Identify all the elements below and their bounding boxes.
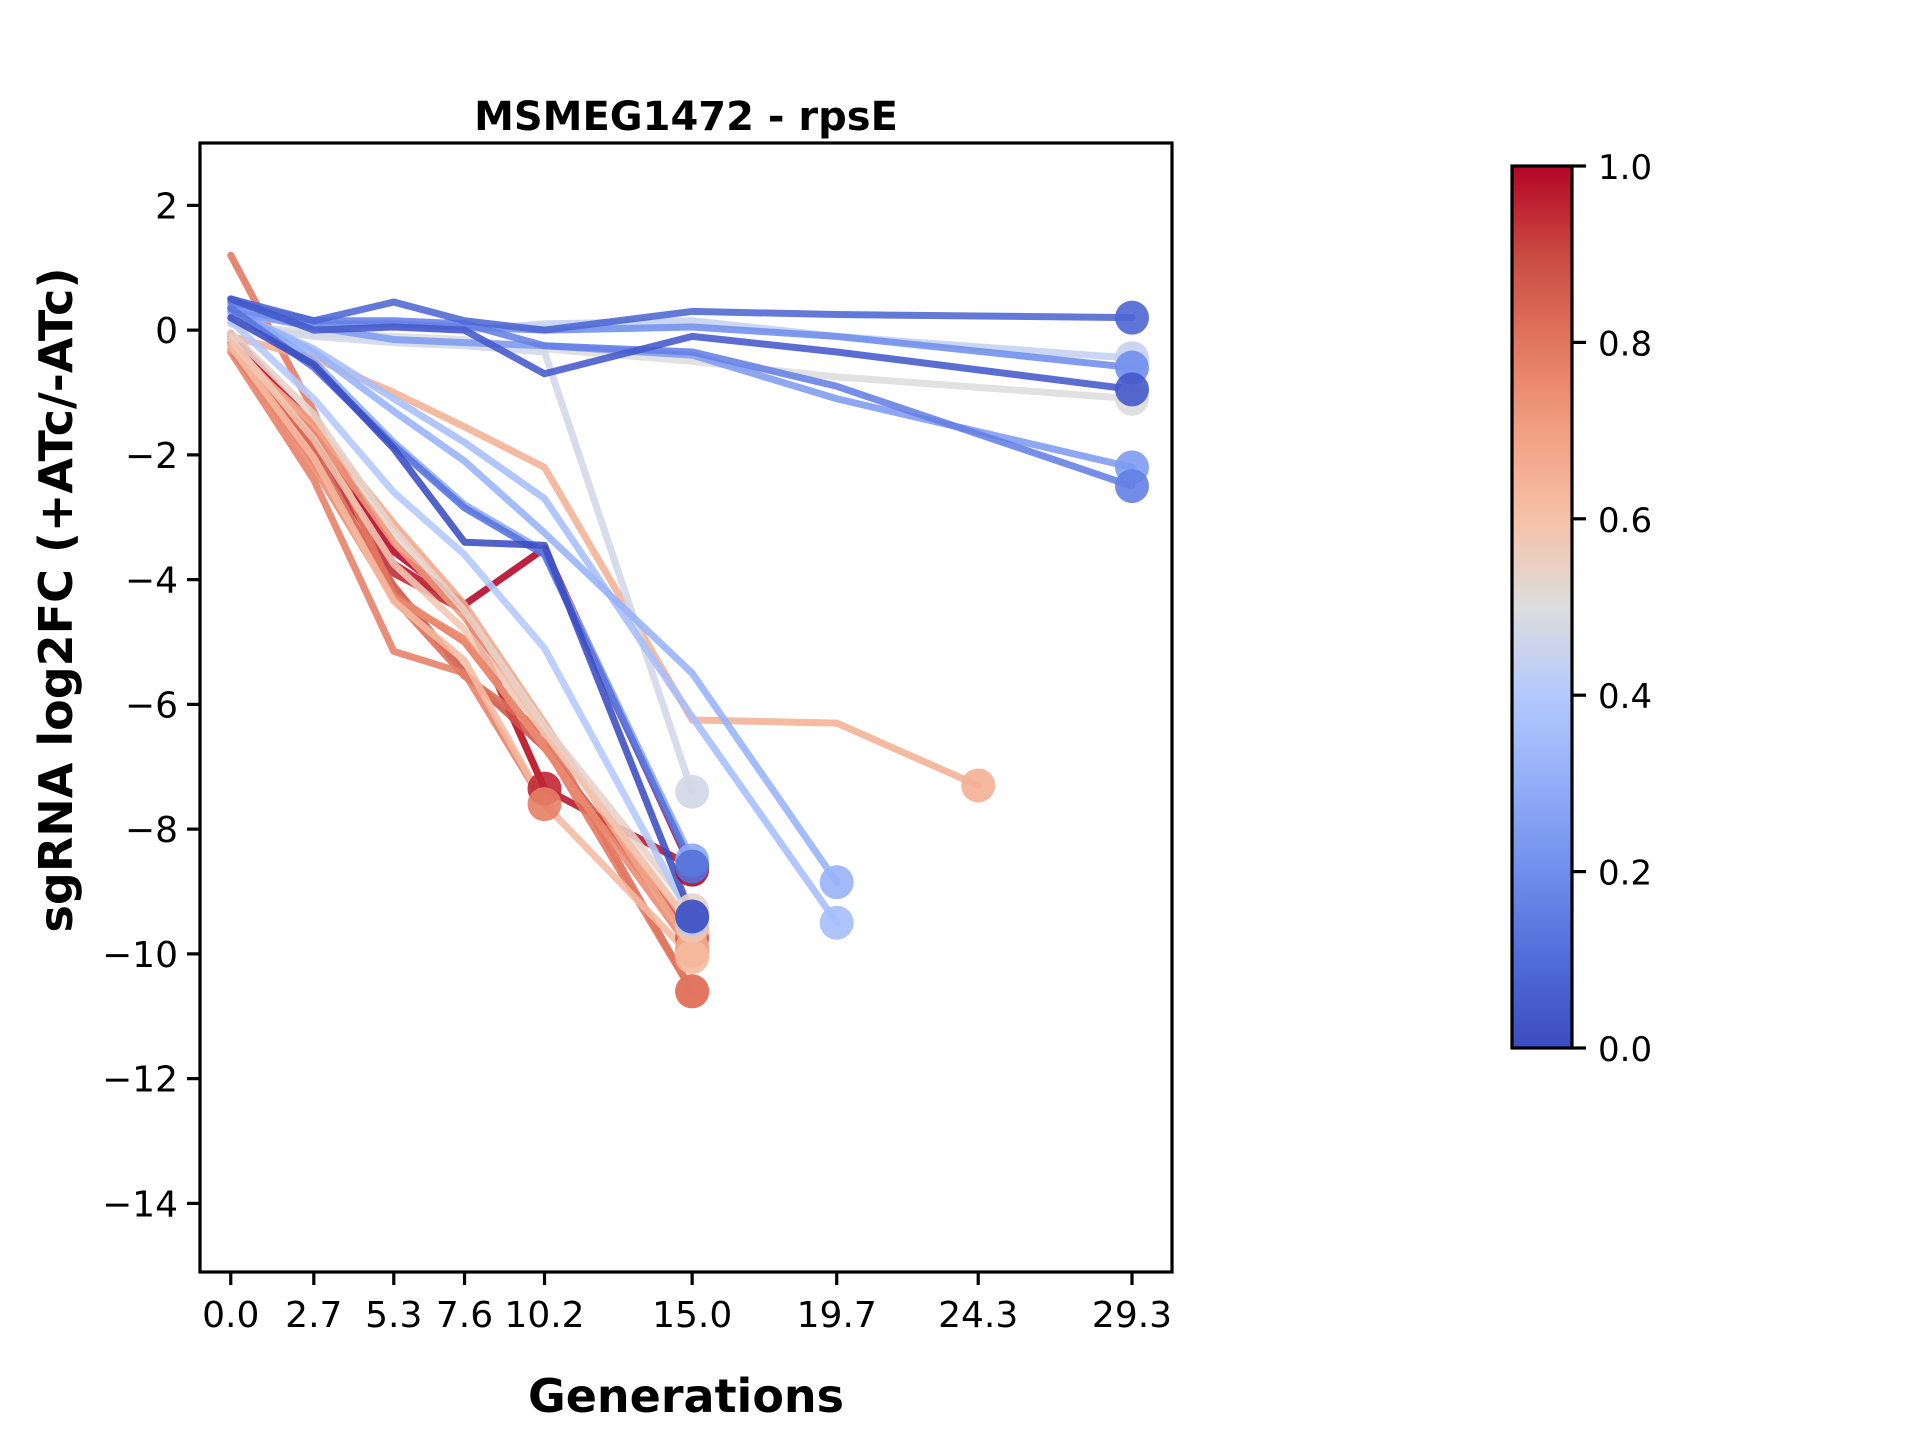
series-markers-layer: [528, 301, 1150, 1009]
y-tick-label: −4: [125, 561, 178, 602]
series-endpoint-marker: [1115, 469, 1149, 503]
y-axis-label: sgRNA log2FC (+ATc/-ATc): [29, 268, 83, 933]
x-tick-label: 10.2: [504, 1295, 584, 1336]
series-endpoint-marker: [820, 906, 854, 940]
series-endpoint-marker: [675, 974, 709, 1008]
figure-canvas: 0.02.75.37.610.215.019.724.329.3 20−2−4−…: [0, 0, 1920, 1440]
x-tick-label: 0.0: [202, 1295, 259, 1336]
x-tick-label: 5.3: [365, 1295, 422, 1336]
x-tick-label: 24.3: [938, 1295, 1018, 1336]
y-tick-label: −12: [102, 1060, 178, 1101]
x-tick-label: 2.7: [285, 1295, 342, 1336]
colorbar-layer: 1.00.80.60.40.20.0: [1512, 148, 1652, 1070]
series-endpoint-marker: [675, 899, 709, 933]
colorbar-tick-label: 0.8: [1598, 324, 1652, 364]
colorbar-tick-label: 0.6: [1598, 501, 1652, 541]
x-tick-label: 19.7: [797, 1295, 877, 1336]
series-endpoint-marker: [528, 787, 562, 821]
x-tick-label: 7.6: [436, 1295, 493, 1336]
series-endpoint-marker: [1115, 372, 1149, 406]
colorbar-tick-label: 1.0: [1598, 148, 1652, 188]
colorbar-tick-label: 0.2: [1598, 854, 1652, 894]
y-tick-label: 2: [155, 186, 178, 227]
series-endpoint-marker: [1115, 301, 1149, 335]
x-axis-label: Generations: [528, 1369, 844, 1423]
chart-svg: 0.02.75.37.610.215.019.724.329.3 20−2−4−…: [0, 0, 1920, 1440]
series-endpoint-marker: [820, 865, 854, 899]
series-endpoint-marker: [961, 768, 995, 802]
series-endpoint-marker: [675, 775, 709, 809]
y-tick-label: −10: [102, 935, 178, 976]
y-axis-ticks-layer: 20−2−4−6−8−10−12−14: [102, 186, 200, 1225]
chart-title: MSMEG1472 - rpsE: [474, 94, 898, 140]
x-tick-label: 15.0: [652, 1295, 732, 1336]
colorbar-tick-label: 0.4: [1598, 677, 1652, 717]
colorbar-tick-label: 0.0: [1598, 1030, 1652, 1070]
x-axis-ticks-layer: 0.02.75.37.610.215.019.724.329.3: [202, 1272, 1172, 1336]
y-tick-label: −6: [125, 685, 178, 726]
y-tick-label: −2: [125, 436, 178, 477]
series-endpoint-marker: [675, 850, 709, 884]
y-tick-label: −8: [125, 810, 178, 851]
colorbar-gradient: [1512, 166, 1572, 1048]
y-tick-label: 0: [155, 311, 178, 352]
series-endpoint-marker: [675, 940, 709, 974]
x-tick-label: 29.3: [1092, 1295, 1172, 1336]
y-tick-label: −14: [102, 1184, 178, 1225]
